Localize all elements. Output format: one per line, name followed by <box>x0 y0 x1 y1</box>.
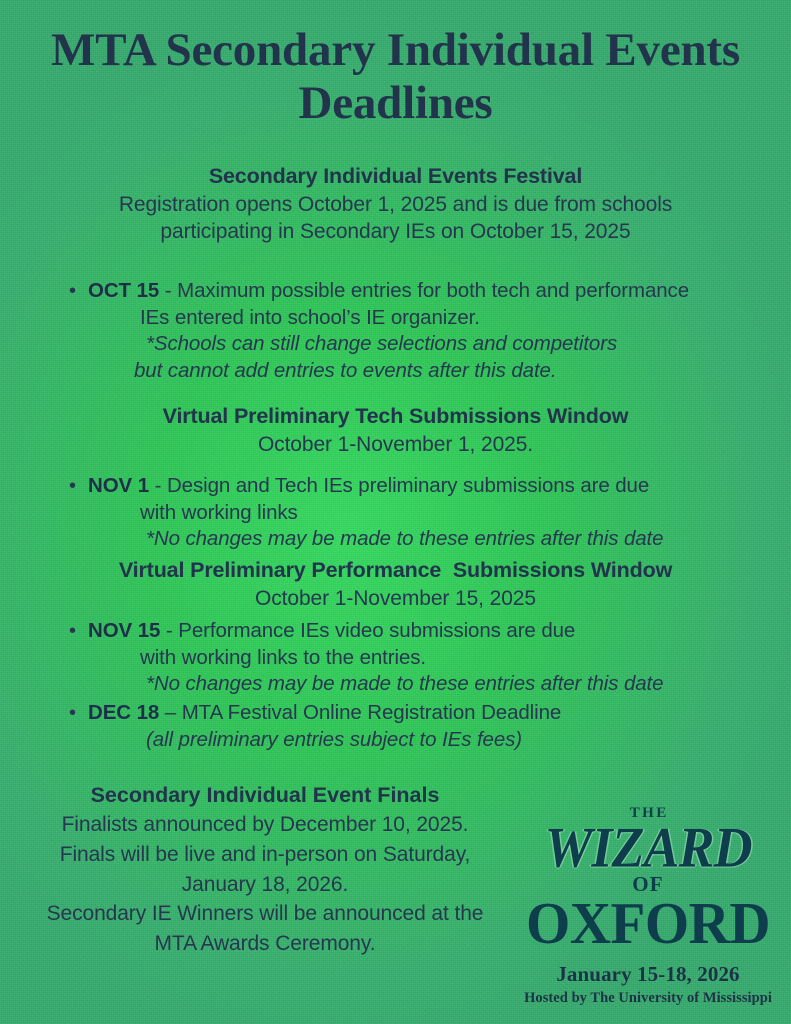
bullet-dot-icon: • <box>69 618 76 644</box>
finals-line-1: Finalists announced by December 10, 2025… <box>0 810 530 840</box>
festival-line-1: Registration opens October 1, 2025 and i… <box>0 191 791 219</box>
festival-section: Secondary Individual Events Festival Reg… <box>0 163 791 246</box>
bullet-dot-icon: • <box>69 700 76 726</box>
finals-heading: Secondary Individual Event Finals <box>0 782 530 810</box>
finals-line-2: Finals will be live and in-person on Sat… <box>0 840 530 870</box>
bullet-dot-icon: • <box>69 473 76 499</box>
deadline-dash: - <box>159 279 177 302</box>
page-title: MTA Secondary Individual Events Deadline… <box>0 0 791 130</box>
deadline-subline-1: IEs entered into school’s IE organizer. <box>88 305 791 332</box>
poster-content: MTA Secondary Individual Events Deadline… <box>0 0 791 1024</box>
deadline-subline-2: *Schools can still change selections and… <box>88 331 791 358</box>
deadline-subline-2: *No changes may be made to these entries… <box>88 526 791 553</box>
deadline-item-nov1: •NOV 1 - Design and Tech IEs preliminary… <box>0 473 791 553</box>
deadline-date-label: NOV 1 <box>88 474 149 497</box>
poster-canvas: MTA Secondary Individual Events Deadline… <box>0 0 791 1024</box>
deadline-item-nov15: •NOV 15 - Performance IEs video submissi… <box>0 618 791 698</box>
finals-line-5: MTA Awards Ceremony. <box>0 929 530 959</box>
deadline-subline-1: with working links <box>88 500 791 527</box>
finals-line-3: January 18, 2026. <box>0 870 530 900</box>
deadline-subline-1: with working links to the entries. <box>88 645 791 672</box>
logo-word-wizard: WIZARD <box>517 820 779 876</box>
logo-host-line: Hosted by The University of Mississippi <box>517 990 779 1007</box>
performance-window-heading: Virtual Preliminary Performance Submissi… <box>0 557 791 585</box>
deadline-date-label: NOV 15 <box>88 619 160 642</box>
deadline-item-oct15: •OCT 15 - Maximum possible entries for b… <box>0 278 791 385</box>
wizard-of-oxford-logo: THE WIZARD OF OXFORD January 15-18, 2026… <box>517 806 779 1008</box>
deadline-dash: - <box>160 619 178 642</box>
festival-heading: Secondary Individual Events Festival <box>0 163 791 191</box>
performance-window-dates: October 1-November 15, 2025 <box>0 585 791 613</box>
logo-word-oxford: OXFORD <box>517 895 779 952</box>
deadline-dash: - <box>149 474 167 497</box>
deadline-dash: – <box>159 701 182 724</box>
finals-section: Secondary Individual Event Finals Finali… <box>0 782 530 959</box>
logo-event-dates: January 15-18, 2026 <box>517 962 779 987</box>
deadline-text: Performance IEs video submissions are du… <box>178 619 575 642</box>
bullet-main-line: •DEC 18 – MTA Festival Online Registrati… <box>88 700 791 727</box>
deadline-subline-2: *No changes may be made to these entries… <box>88 671 791 698</box>
deadline-subline-1: (all preliminary entries subject to IEs … <box>88 727 791 754</box>
bullet-main-line: •OCT 15 - Maximum possible entries for b… <box>88 278 791 305</box>
tech-window-dates: October 1-November 1, 2025. <box>0 431 791 459</box>
bullet-dot-icon: • <box>69 278 76 304</box>
tech-window-heading: Virtual Preliminary Tech Submissions Win… <box>0 403 791 431</box>
finals-line-4: Secondary IE Winners will be announced a… <box>0 899 530 929</box>
bullet-main-line: •NOV 15 - Performance IEs video submissi… <box>88 618 791 645</box>
bullet-main-line: •NOV 1 - Design and Tech IEs preliminary… <box>88 473 791 500</box>
deadline-date-label: OCT 15 <box>88 279 159 302</box>
deadline-item-dec18: •DEC 18 – MTA Festival Online Registrati… <box>0 700 791 753</box>
deadline-subline-3: but cannot add entries to events after t… <box>88 358 791 385</box>
tech-window-section: Virtual Preliminary Tech Submissions Win… <box>0 403 791 458</box>
deadline-text: MTA Festival Online Registration Deadlin… <box>182 701 562 724</box>
deadline-text: Design and Tech IEs preliminary submissi… <box>167 474 649 497</box>
deadline-text: Maximum possible entries for both tech a… <box>177 279 689 302</box>
festival-line-2: participating in Secondary IEs on Octobe… <box>0 218 791 246</box>
deadline-date-label: DEC 18 <box>88 701 159 724</box>
performance-window-section: Virtual Preliminary Performance Submissi… <box>0 557 791 612</box>
